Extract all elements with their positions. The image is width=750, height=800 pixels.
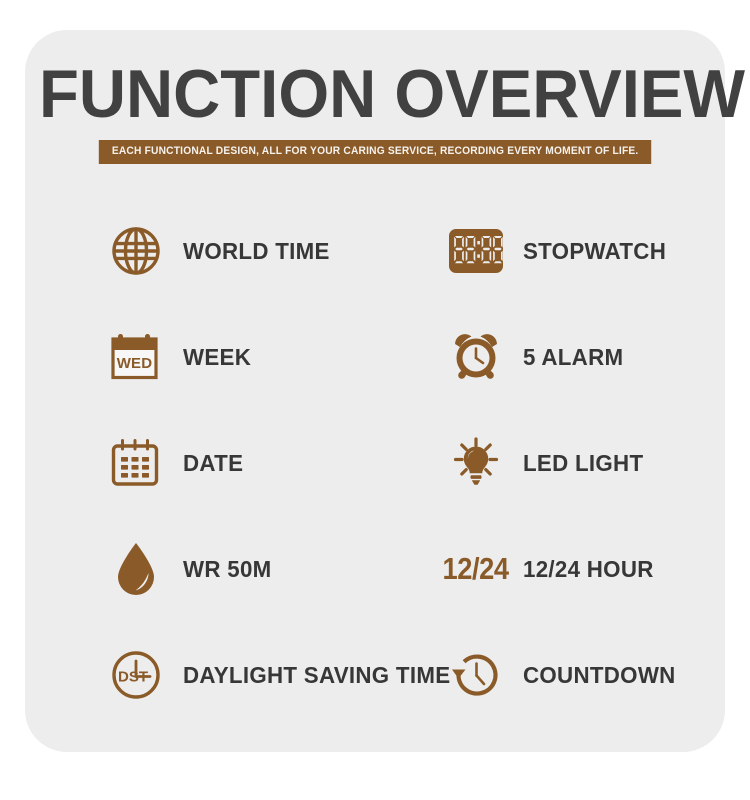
feature-label: 12/24 HOUR (523, 557, 654, 581)
feature-world-time[interactable]: WORLD TIME (107, 198, 447, 304)
feature-countdown[interactable]: COUNTDOWN (447, 622, 750, 728)
feature-12-24-hour[interactable]: 12/24 12/24 HOUR (447, 516, 750, 622)
feature-label: WEEK (183, 345, 251, 369)
feature-label: 5 ALARM (523, 345, 623, 369)
function-overview-card: FUNCTION OVERVIEW EACH FUNCTIONAL DESIGN… (25, 30, 725, 752)
svg-text:WED: WED (117, 355, 153, 372)
feature-label: DATE (183, 451, 243, 475)
tagline-banner: EACH FUNCTIONAL DESIGN, ALL FOR YOUR CAR… (99, 140, 652, 164)
light-bulb-icon (447, 434, 505, 492)
calendar-day-icon: WED (107, 328, 165, 386)
countdown-clock-icon (447, 646, 505, 704)
dst-clock-icon: DST (107, 646, 165, 704)
feature-label: WORLD TIME (183, 239, 330, 263)
globe-icon (107, 222, 165, 280)
feature-label: COUNTDOWN (523, 663, 676, 687)
feature-led-light[interactable]: LED LIGHT (447, 410, 750, 516)
feature-label: WR 50M (183, 557, 272, 581)
water-drop-icon (107, 540, 165, 598)
feature-alarm[interactable]: 5 ALARM (447, 304, 750, 410)
feature-grid: WORLD TIME (25, 198, 725, 728)
alarm-clock-icon (447, 328, 505, 386)
page-title: FUNCTION OVERVIEW (39, 58, 711, 130)
calendar-grid-icon (107, 434, 165, 492)
feature-week[interactable]: WED WEEK (107, 304, 447, 410)
feature-water-resistance[interactable]: WR 50M (107, 516, 447, 622)
feature-label: DAYLIGHT SAVING TIME (183, 663, 450, 687)
feature-daylight-saving-time[interactable]: DST DAYLIGHT SAVING TIME (107, 622, 447, 728)
twelve-twentyfour-text-icon: 12/24 (447, 540, 505, 598)
card-header: FUNCTION OVERVIEW EACH FUNCTIONAL DESIGN… (25, 30, 725, 164)
feature-label: STOPWATCH (523, 239, 666, 263)
digital-display-icon (447, 222, 505, 280)
twelve-twentyfour-text: 12/24 (443, 553, 509, 585)
feature-label: LED LIGHT (523, 451, 643, 475)
feature-date[interactable]: DATE (107, 410, 447, 516)
svg-text:DST: DST (118, 669, 148, 686)
feature-stopwatch[interactable]: STOPWATCH (447, 198, 750, 304)
